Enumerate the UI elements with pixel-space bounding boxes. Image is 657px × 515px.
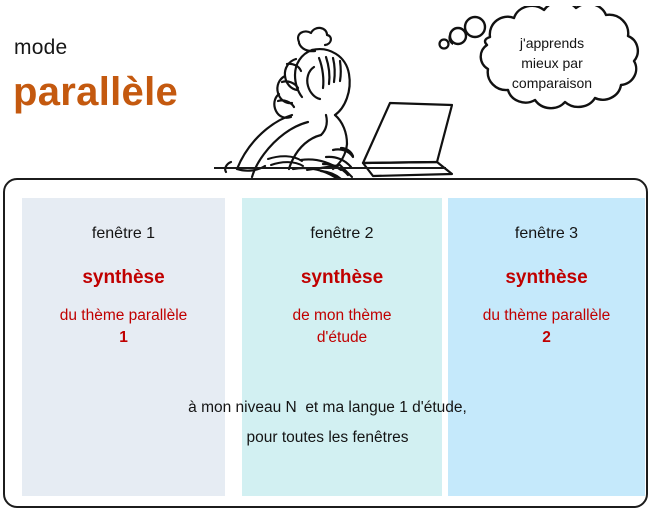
desk-line <box>214 167 446 169</box>
bubble-line-3: comparaison <box>462 73 642 93</box>
header-region: mode parallèle <box>0 0 657 178</box>
window-label-3: fenêtre 3 <box>448 224 645 244</box>
synthesis-detail-2: de mon thème d'étude <box>242 305 442 349</box>
student-at-laptop-icon <box>213 2 453 178</box>
mode-label: mode <box>14 37 67 58</box>
synthesis-detail-2-line-1: de mon thème <box>242 305 442 327</box>
window-column-3[interactable]: fenêtre 3 synthèse du thème parallèle 2 <box>448 198 645 496</box>
bubble-line-1: j'apprends <box>462 33 642 53</box>
window-column-1[interactable]: fenêtre 1 synthèse du thème parallèle 1 <box>22 198 225 496</box>
synthesis-heading-1: synthèse <box>22 267 225 289</box>
synthesis-heading-3: synthèse <box>448 267 645 289</box>
page-title: parallèle <box>13 72 178 112</box>
windows-columns: fenêtre 1 synthèse du thème parallèle 1 … <box>22 198 633 496</box>
window-label-1: fenêtre 1 <box>22 224 225 244</box>
student-at-laptop-illustration <box>213 2 453 178</box>
synthesis-heading-2: synthèse <box>242 267 442 289</box>
synthesis-detail-1-line-2: 1 <box>22 327 225 349</box>
thought-bubble-text: j'apprends mieux par comparaison <box>462 33 642 93</box>
window-column-1-content: fenêtre 1 synthèse du thème parallèle 1 <box>22 198 225 349</box>
parallel-mode-panel: fenêtre 1 synthèse du thème parallèle 1 … <box>3 178 648 508</box>
window-column-3-content: fenêtre 3 synthèse du thème parallèle 2 <box>448 198 645 349</box>
bubble-line-2: mieux par <box>462 53 642 73</box>
synthesis-detail-3: du thème parallèle 2 <box>448 305 645 349</box>
window-column-2-content: fenêtre 2 synthèse de mon thème d'étude <box>242 198 442 349</box>
synthesis-detail-3-line-2: 2 <box>448 327 645 349</box>
synthesis-detail-1-line-1: du thème parallèle <box>22 305 225 327</box>
synthesis-detail-3-line-1: du thème parallèle <box>448 305 645 327</box>
window-label-2: fenêtre 2 <box>242 224 442 244</box>
synthesis-detail-2-line-2: d'étude <box>242 327 442 349</box>
synthesis-detail-1: du thème parallèle 1 <box>22 305 225 349</box>
window-column-2[interactable]: fenêtre 2 synthèse de mon thème d'étude <box>242 198 442 496</box>
